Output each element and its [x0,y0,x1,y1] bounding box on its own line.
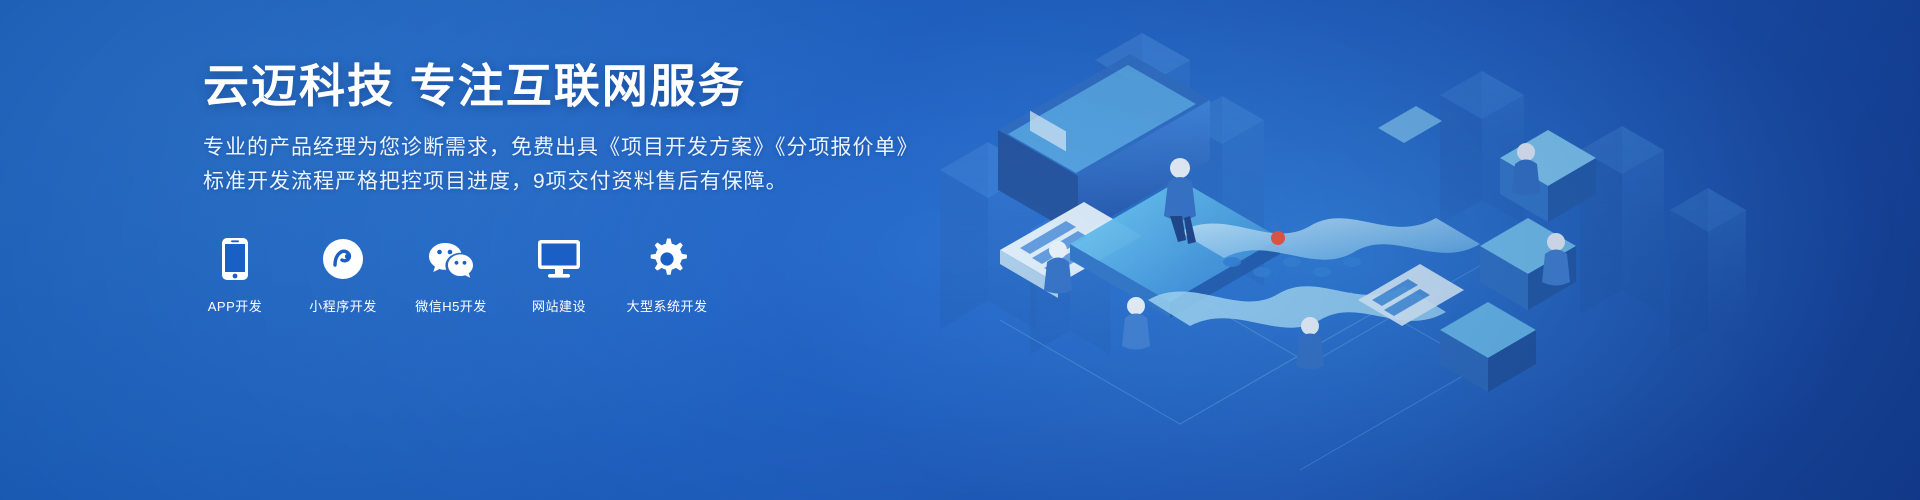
service-icon-list: APP开发 小程序开发 [203,236,699,315]
illustration-svg [880,0,1920,500]
highlight-dot [1271,231,1285,245]
banner-subtitle: 专业的产品经理为您诊断需求，免费出具《项目开发方案》《分项报价单》 标准开发流程… [203,131,903,199]
service-label: 网站建设 [532,296,586,315]
service-label: 大型系统开发 [627,296,708,315]
service-item-app[interactable]: APP开发 [203,236,267,315]
isometric-illustration [880,0,1920,500]
service-item-large-system[interactable]: 大型系统开发 [635,236,699,315]
gear-icon [646,236,688,282]
page-title: 云迈科技 专注互联网服务 [203,60,903,113]
mini-program-icon [322,236,364,282]
banner-content: 云迈科技 专注互联网服务 专业的产品经理为您诊断需求，免费出具《项目开发方案》《… [203,60,903,199]
subtitle-line-2: 标准开发流程严格把控项目进度，9项交付资料售后有保障。 [203,165,903,199]
person-lower-left [1122,297,1150,350]
service-label: APP开发 [208,296,263,315]
subtitle-line-1: 专业的产品经理为您诊断需求，免费出具《项目开发方案》《分项报价单》 [203,131,903,165]
mobile-phone-icon [220,236,250,282]
service-item-wechat-h5[interactable]: 微信H5开发 [419,236,483,315]
service-label: 微信H5开发 [415,296,487,315]
service-item-mini-program[interactable]: 小程序开发 [311,236,375,315]
monitor-icon [537,236,581,282]
wechat-icon [428,236,474,282]
service-item-website[interactable]: 网站建设 [527,236,591,315]
hero-banner: 云迈科技 专注互联网服务 专业的产品经理为您诊断需求，免费出具《项目开发方案》《… [0,0,1920,500]
service-label: 小程序开发 [309,296,377,315]
